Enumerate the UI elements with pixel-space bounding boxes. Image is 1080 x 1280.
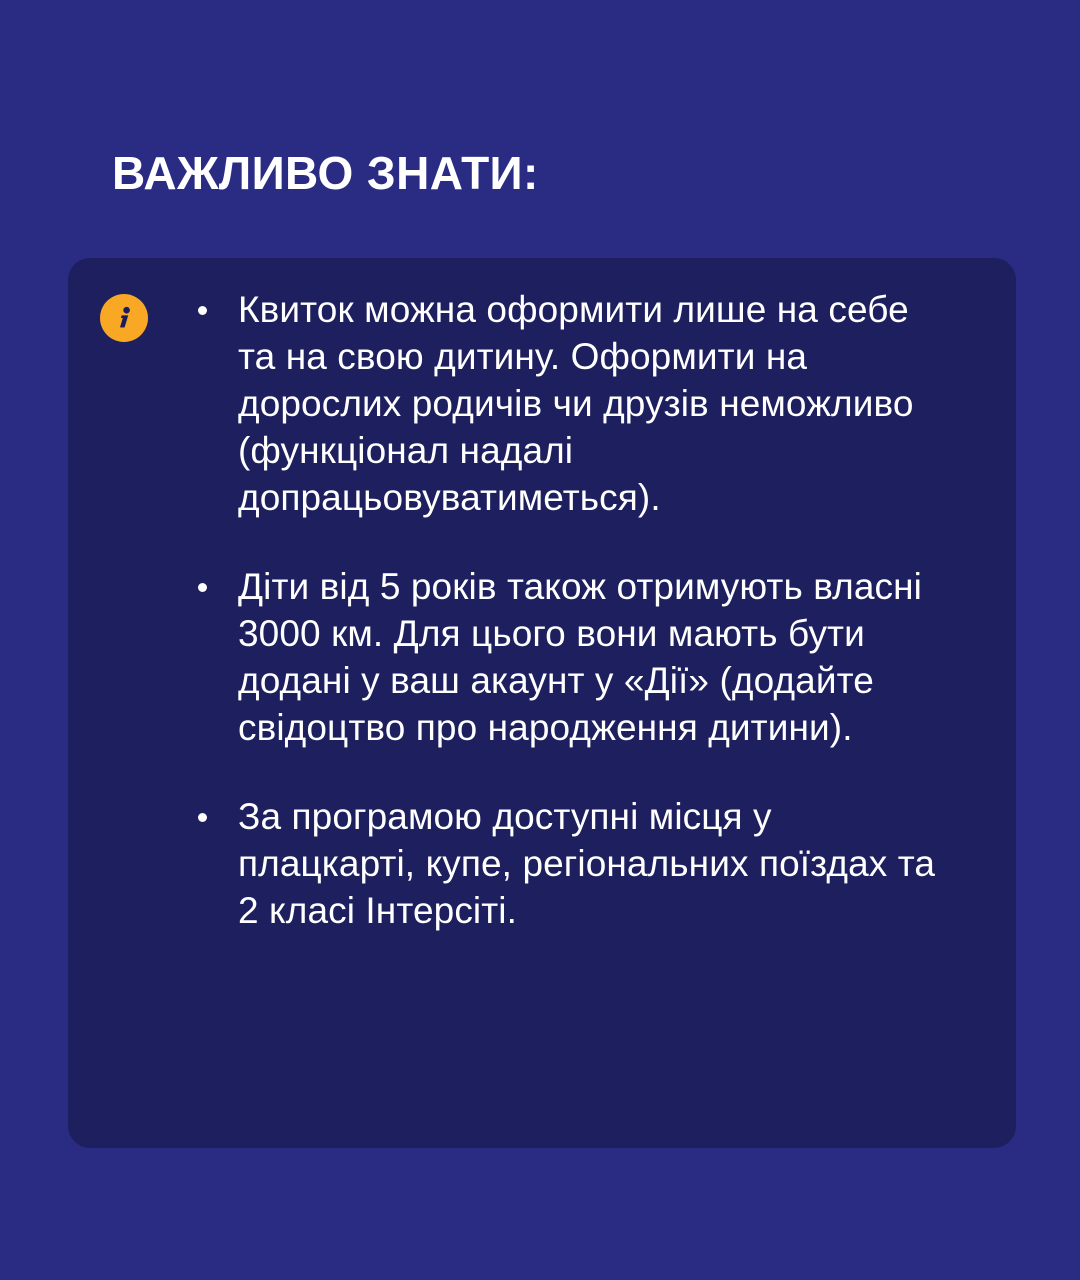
- list-item-text: Діти від 5 років також отримують власні …: [238, 563, 952, 751]
- list-item-text: Квиток можна оформити лише на себе та на…: [238, 286, 952, 521]
- page-title: ВАЖЛИВО ЗНАТИ:: [112, 146, 539, 200]
- list-item-text: За програмою доступні місця у плацкарті,…: [238, 793, 952, 934]
- info-card: Квиток можна оформити лише на себе та на…: [68, 258, 1016, 1148]
- bullet-dot-icon: [198, 583, 207, 592]
- list-item: За програмою доступні місця у плацкарті,…: [192, 793, 952, 934]
- bullet-dot-icon: [198, 813, 207, 822]
- info-icon-container: [100, 286, 192, 342]
- poster-root: ВАЖЛИВО ЗНАТИ: Квиток можна оформити лиш…: [0, 0, 1080, 1280]
- list-item: Квиток можна оформити лише на себе та на…: [192, 286, 952, 521]
- important-notes-list: Квиток можна оформити лише на себе та на…: [192, 286, 952, 934]
- bullet-dot-icon: [198, 306, 207, 315]
- list-item: Діти від 5 років також отримують власні …: [192, 563, 952, 751]
- info-icon: [100, 294, 148, 342]
- info-card-content: Квиток можна оформити лише на себе та на…: [100, 286, 986, 1118]
